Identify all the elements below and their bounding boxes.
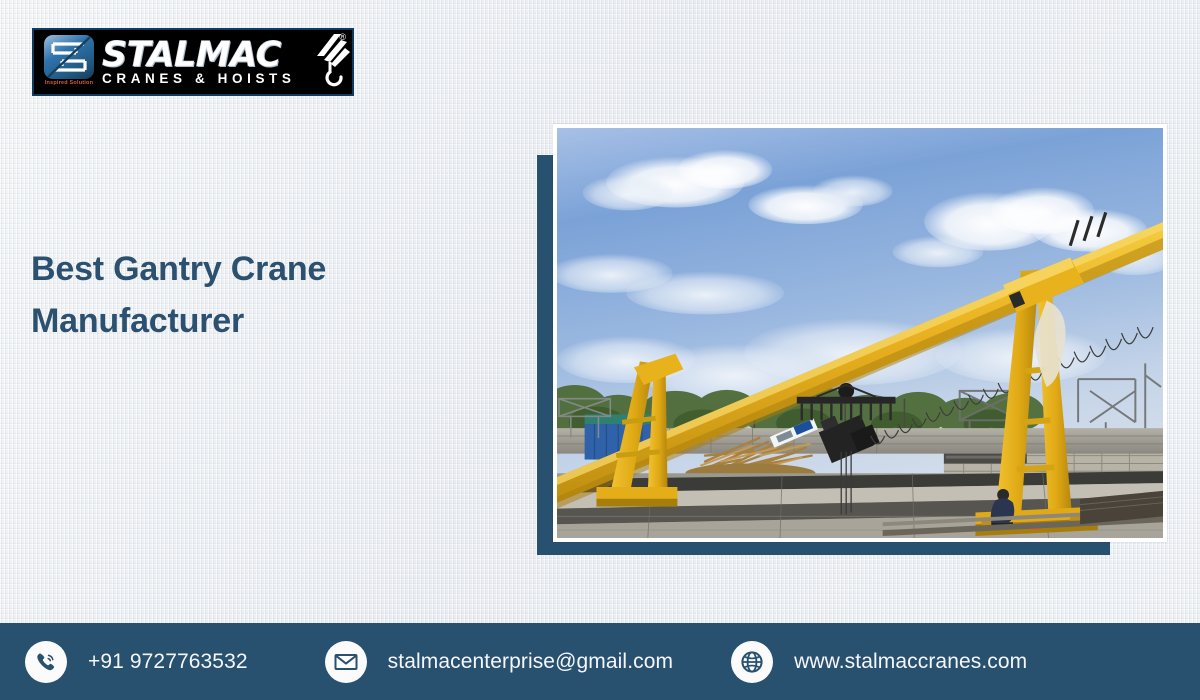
gantry-crane-photo [557,128,1163,538]
logo-wordmark: STALMAC CRANES & HOISTS [102,35,296,89]
website-url: www.stalmaccranes.com [794,650,1027,674]
globe-icon [731,641,773,683]
contact-phone[interactable]: +91 9727763532 [25,623,248,700]
logo-subtitle: CRANES & HOISTS [102,71,296,86]
phone-icon [25,641,67,683]
logo-mark: Inspired Solution [40,35,98,89]
page-title: Best Gantry Crane Manufacturer [31,243,431,347]
logo-name: STALMAC [102,38,296,72]
crane-hook-icon [308,32,354,88]
poster-canvas: Inspired Solution STALMAC CRANES & HOIST… [0,0,1200,700]
contact-email[interactable]: stalmacenterprise@gmail.com [325,623,673,700]
email-address: stalmacenterprise@gmail.com [388,650,673,674]
phone-number: +91 9727763532 [88,650,248,674]
se-monogram-icon [44,35,94,79]
email-icon [325,641,367,683]
logo-tagline: Inspired Solution [45,80,93,86]
hero-photo-frame [553,124,1167,542]
contact-website[interactable]: www.stalmaccranes.com [731,623,1027,700]
contact-footer: +91 9727763532 stalmacenterprise@gmail.c… [0,623,1200,700]
registered-trademark-icon: ® [339,32,346,42]
company-logo[interactable]: Inspired Solution STALMAC CRANES & HOIST… [32,28,354,96]
